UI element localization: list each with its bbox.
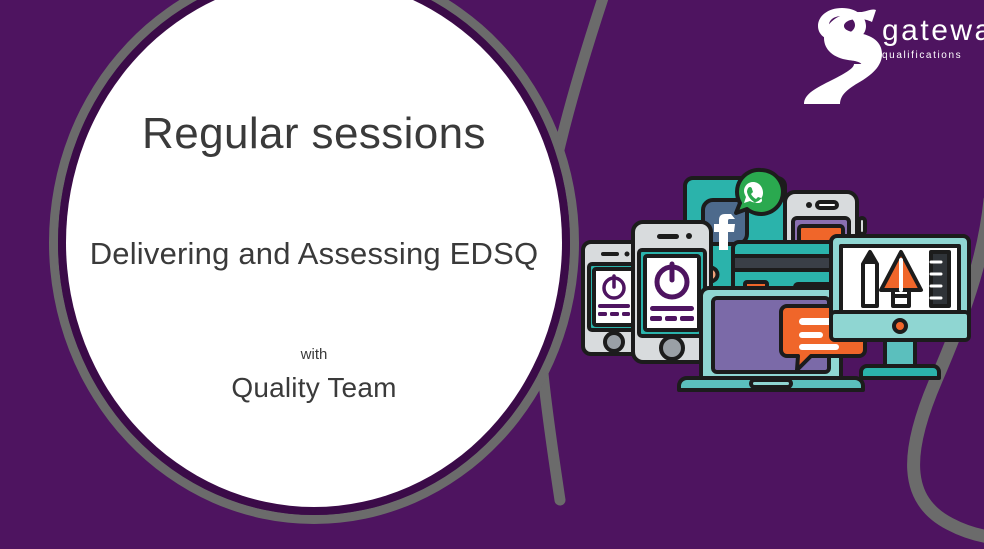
whatsapp-bubble bbox=[736, 170, 783, 214]
presentation-slide: Regular sessions Delivering and Assessin… bbox=[0, 0, 984, 549]
digital-devices-illustration bbox=[575, 160, 975, 395]
with-label: with bbox=[301, 347, 328, 362]
presenter-name: Quality Team bbox=[231, 374, 396, 402]
slide-subtitle: Delivering and Assessing EDSQ bbox=[90, 238, 539, 269]
logo-tagline: qualifications bbox=[882, 51, 984, 61]
ruler-icon bbox=[931, 252, 949, 306]
logo-brand-name: gatewa bbox=[882, 16, 984, 46]
pencil-icon bbox=[863, 252, 877, 306]
brand-logo: gatewa qualifications bbox=[798, 4, 984, 108]
page-title: Regular sessions bbox=[142, 112, 486, 156]
slide-text-block: Regular sessions Delivering and Assessin… bbox=[58, 0, 570, 515]
logo-text-group: gatewa qualifications bbox=[882, 16, 984, 61]
